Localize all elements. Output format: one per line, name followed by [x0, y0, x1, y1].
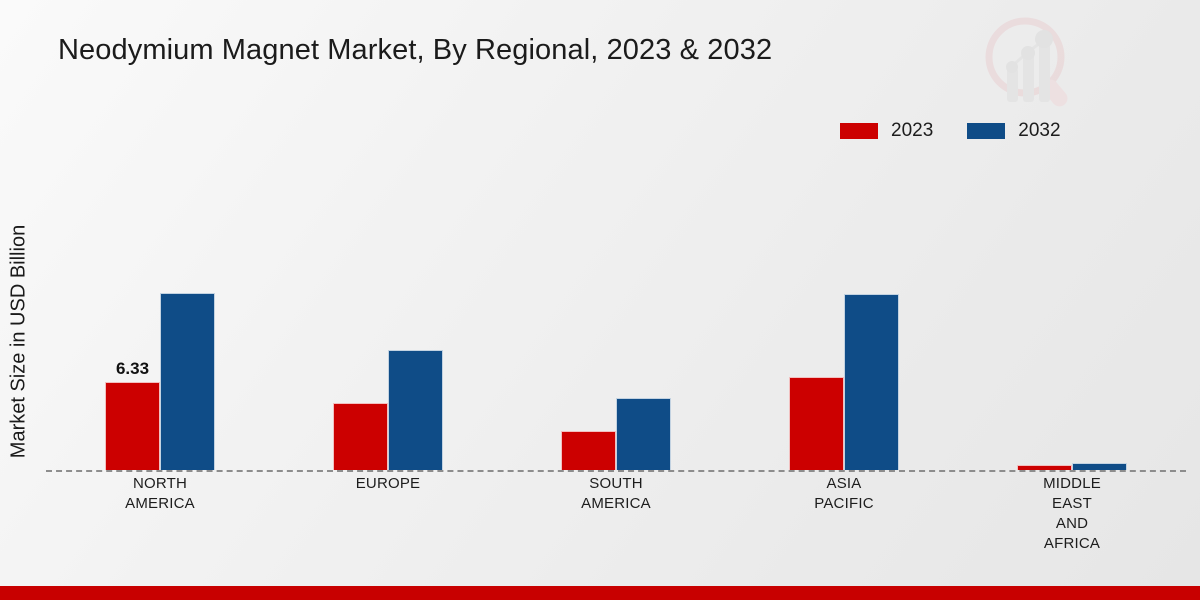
- market-research-logo-icon: [975, 10, 1085, 115]
- y-axis-title: Market Size in USD Billion: [8, 177, 31, 507]
- category-label-line: AND: [958, 514, 1186, 534]
- bar-2032[interactable]: [616, 150, 671, 470]
- bar-2032[interactable]: [160, 150, 215, 470]
- bar-rect[interactable]: [388, 350, 443, 470]
- category-label-line: MIDDLE: [958, 474, 1186, 494]
- category-label: NORTHAMERICA: [46, 474, 274, 554]
- bar-2023[interactable]: 6.33: [105, 150, 160, 470]
- category-label: EUROPE: [274, 474, 502, 554]
- bar-2023[interactable]: [561, 150, 616, 470]
- category-label: ASIAPACIFIC: [730, 474, 958, 554]
- bar-rect[interactable]: [105, 382, 160, 470]
- category-label-line: AMERICA: [46, 494, 274, 514]
- legend-swatch-2032: [967, 123, 1005, 139]
- category-label-line: EUROPE: [274, 474, 502, 494]
- legend-label-2032: 2032: [1018, 120, 1060, 142]
- bar-group: [502, 150, 730, 470]
- x-axis-baseline: [46, 470, 1186, 472]
- bar-group: [274, 150, 502, 470]
- bar-rect[interactable]: [844, 294, 899, 470]
- bar-2023[interactable]: [333, 150, 388, 470]
- legend-item-2032[interactable]: 2032: [967, 120, 1060, 142]
- bar-rect[interactable]: [160, 293, 215, 470]
- bar-rect[interactable]: [1072, 463, 1127, 470]
- x-axis-categories: NORTHAMERICAEUROPESOUTHAMERICAASIAPACIFI…: [46, 474, 1186, 554]
- bar-2032[interactable]: [1072, 150, 1127, 470]
- bar-group: [730, 150, 958, 470]
- bar-2032[interactable]: [388, 150, 443, 470]
- bar-value-label: 6.33: [116, 359, 149, 379]
- bar-rect[interactable]: [333, 403, 388, 470]
- category-label-line: EAST: [958, 494, 1186, 514]
- category-label-line: AMERICA: [502, 494, 730, 514]
- legend-item-2023[interactable]: 2023: [840, 120, 933, 142]
- category-label-line: ASIA: [730, 474, 958, 494]
- page-title: Neodymium Magnet Market, By Regional, 20…: [58, 34, 772, 67]
- footer-bar: [0, 586, 1200, 600]
- bar-2023[interactable]: [789, 150, 844, 470]
- bar-rect[interactable]: [561, 431, 616, 470]
- bar-groups: 6.33: [46, 150, 1186, 470]
- category-label-line: AFRICA: [958, 534, 1186, 554]
- legend-swatch-2023: [840, 123, 878, 139]
- bar-group: [958, 150, 1186, 470]
- legend-label-2023: 2023: [891, 120, 933, 142]
- bar-rect[interactable]: [616, 398, 671, 470]
- bar-2023[interactable]: [1017, 150, 1072, 470]
- bar-2032[interactable]: [844, 150, 899, 470]
- plot-area: 6.33: [46, 150, 1186, 470]
- chart-page: Neodymium Magnet Market, By Regional, 20…: [0, 0, 1200, 600]
- bar-group: 6.33: [46, 150, 274, 470]
- category-label-line: NORTH: [46, 474, 274, 494]
- category-label: MIDDLEEASTANDAFRICA: [958, 474, 1186, 554]
- chart-legend: 2023 2032: [840, 120, 1061, 142]
- category-label-line: SOUTH: [502, 474, 730, 494]
- category-label: SOUTHAMERICA: [502, 474, 730, 554]
- category-label-line: PACIFIC: [730, 494, 958, 514]
- bar-rect[interactable]: [789, 377, 844, 470]
